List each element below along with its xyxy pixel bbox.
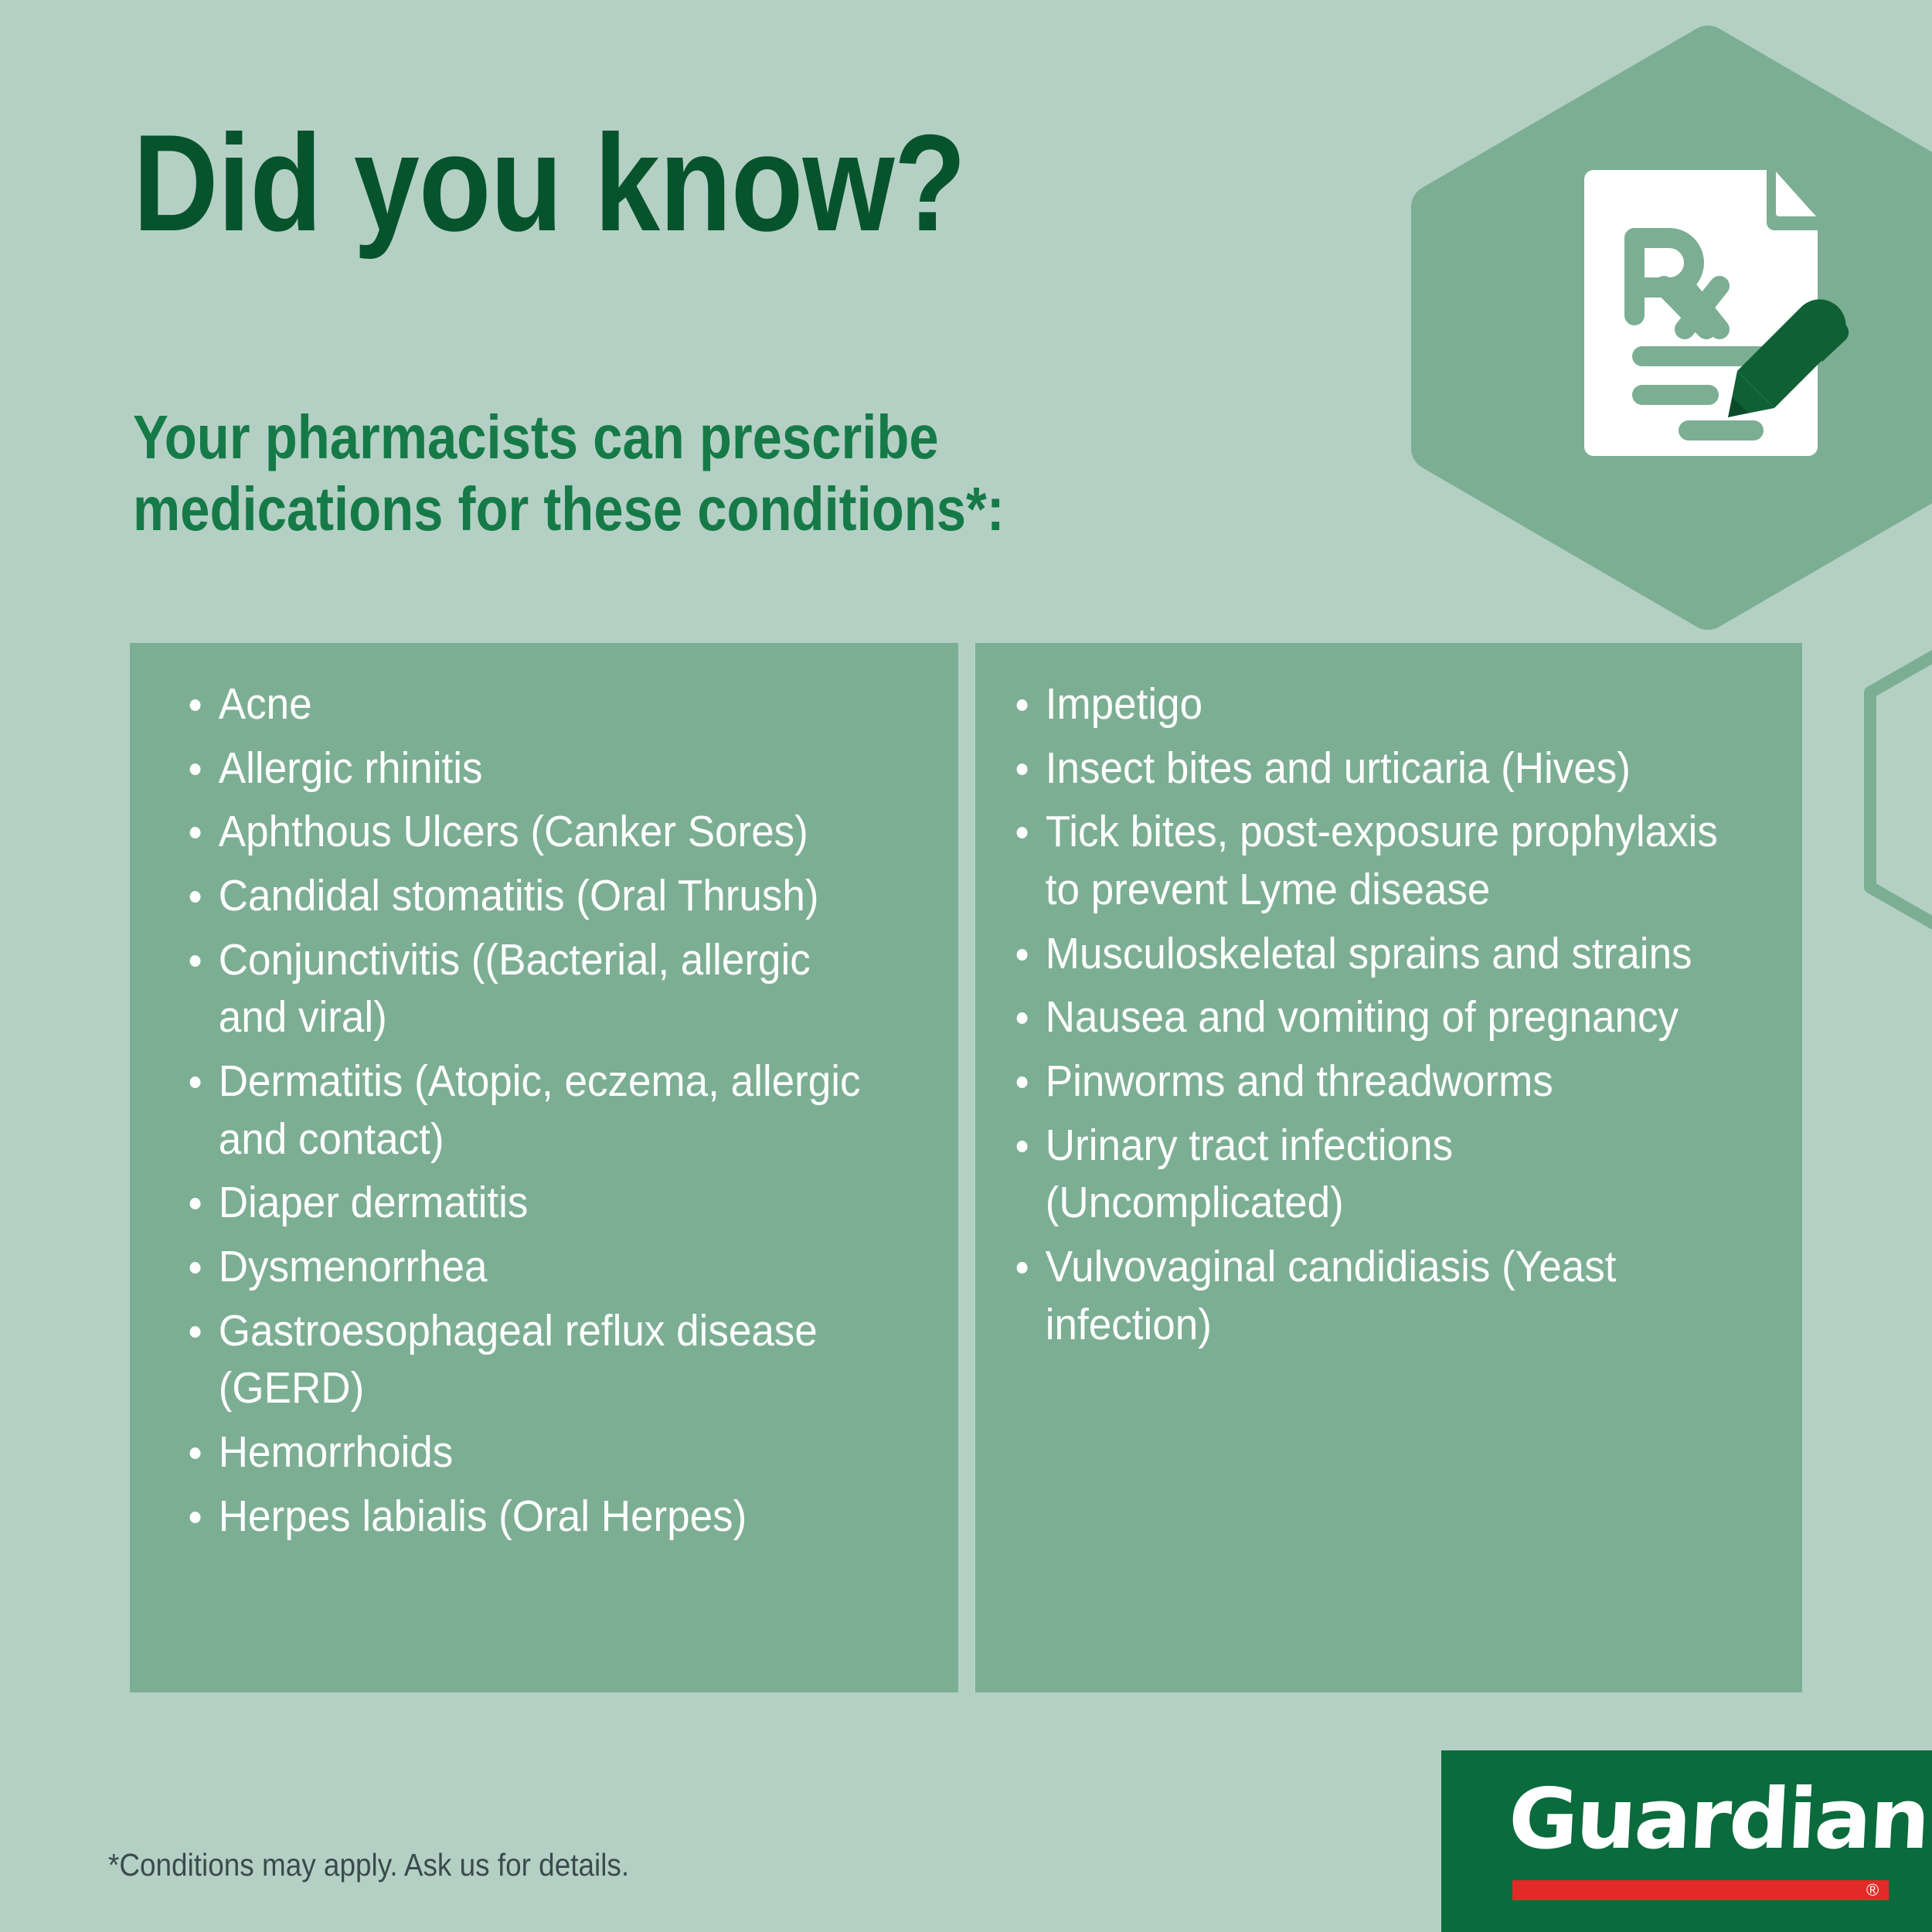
condition-list-item: Aphthous Ulcers (Canker Sores)	[185, 803, 883, 861]
condition-list-item: Nausea and vomiting of pregnancy	[1012, 988, 1726, 1046]
condition-list-item: Diaper dermatitis	[185, 1174, 883, 1232]
condition-list-item: Impetigo	[1012, 675, 1726, 733]
condition-list-item: Hemorrhoids	[185, 1423, 883, 1481]
condition-list-item: Urinary tract infections (Uncomplicated)	[1012, 1117, 1726, 1232]
condition-list-item: Dermatitis (Atopic, eczema, allergic and…	[185, 1053, 883, 1168]
page-subtitle-line-1: Your pharmacists can prescribe	[133, 402, 1005, 474]
condition-list-item: Acne	[185, 675, 883, 733]
guardian-wordmark: Guardian	[1506, 1778, 1930, 1862]
condition-list-item: Gastroesophageal reflux disease (GERD)	[185, 1302, 883, 1417]
condition-list-item: Candidal stomatitis (Oral Thrush)	[185, 867, 883, 925]
document-folded-corner	[1776, 172, 1816, 216]
condition-list-item: Dysmenorrhea	[185, 1238, 883, 1296]
infographic-poster: Did you know? Your pharmacists can presc…	[0, 0, 1932, 1932]
page-subtitle-line-2: medications for these conditions*:	[133, 474, 1005, 546]
page-subtitle: Your pharmacists can prescribe medicatio…	[133, 402, 1005, 546]
hexagon-outline	[1870, 595, 1932, 985]
guardian-logo-block: Guardian ®	[1441, 1750, 1932, 1932]
registered-trademark-mark: ®	[1866, 1882, 1879, 1899]
condition-list-item: Insect bites and urticaria (Hives)	[1012, 740, 1726, 798]
condition-list-item: Musculoskeletal sprains and strains	[1012, 925, 1726, 983]
conditions-list-left: AcneAllergic rhinitisAphthous Ulcers (Ca…	[130, 643, 958, 1545]
conditions-panel-left: AcneAllergic rhinitisAphthous Ulcers (Ca…	[130, 643, 958, 1692]
condition-list-item: Vulvovaginal candidiasis (Yeast infectio…	[1012, 1238, 1726, 1353]
condition-list-item: Tick bites, post-exposure prophylaxis to…	[1012, 803, 1726, 918]
document-rule-2	[1632, 385, 1719, 405]
page-title: Did you know?	[133, 114, 965, 252]
document-signature-line	[1679, 420, 1764, 440]
rx-prescription-icon	[1577, 162, 1855, 471]
condition-list-item: Pinworms and threadworms	[1012, 1053, 1726, 1111]
footnote-text: *Conditions may apply. Ask us for detail…	[108, 1847, 629, 1883]
conditions-list-right: ImpetigoInsect bites and urticaria (Hive…	[975, 643, 1802, 1353]
condition-list-item: Herpes labialis (Oral Herpes)	[185, 1488, 883, 1546]
condition-list-item: Conjunctivitis ((Bacterial, allergic and…	[185, 931, 883, 1046]
guardian-red-rule	[1512, 1880, 1889, 1900]
rx-icon-svg	[1577, 162, 1855, 471]
condition-list-item: Allergic rhinitis	[185, 740, 883, 798]
conditions-panel-right: ImpetigoInsect bites and urticaria (Hive…	[975, 643, 1802, 1692]
